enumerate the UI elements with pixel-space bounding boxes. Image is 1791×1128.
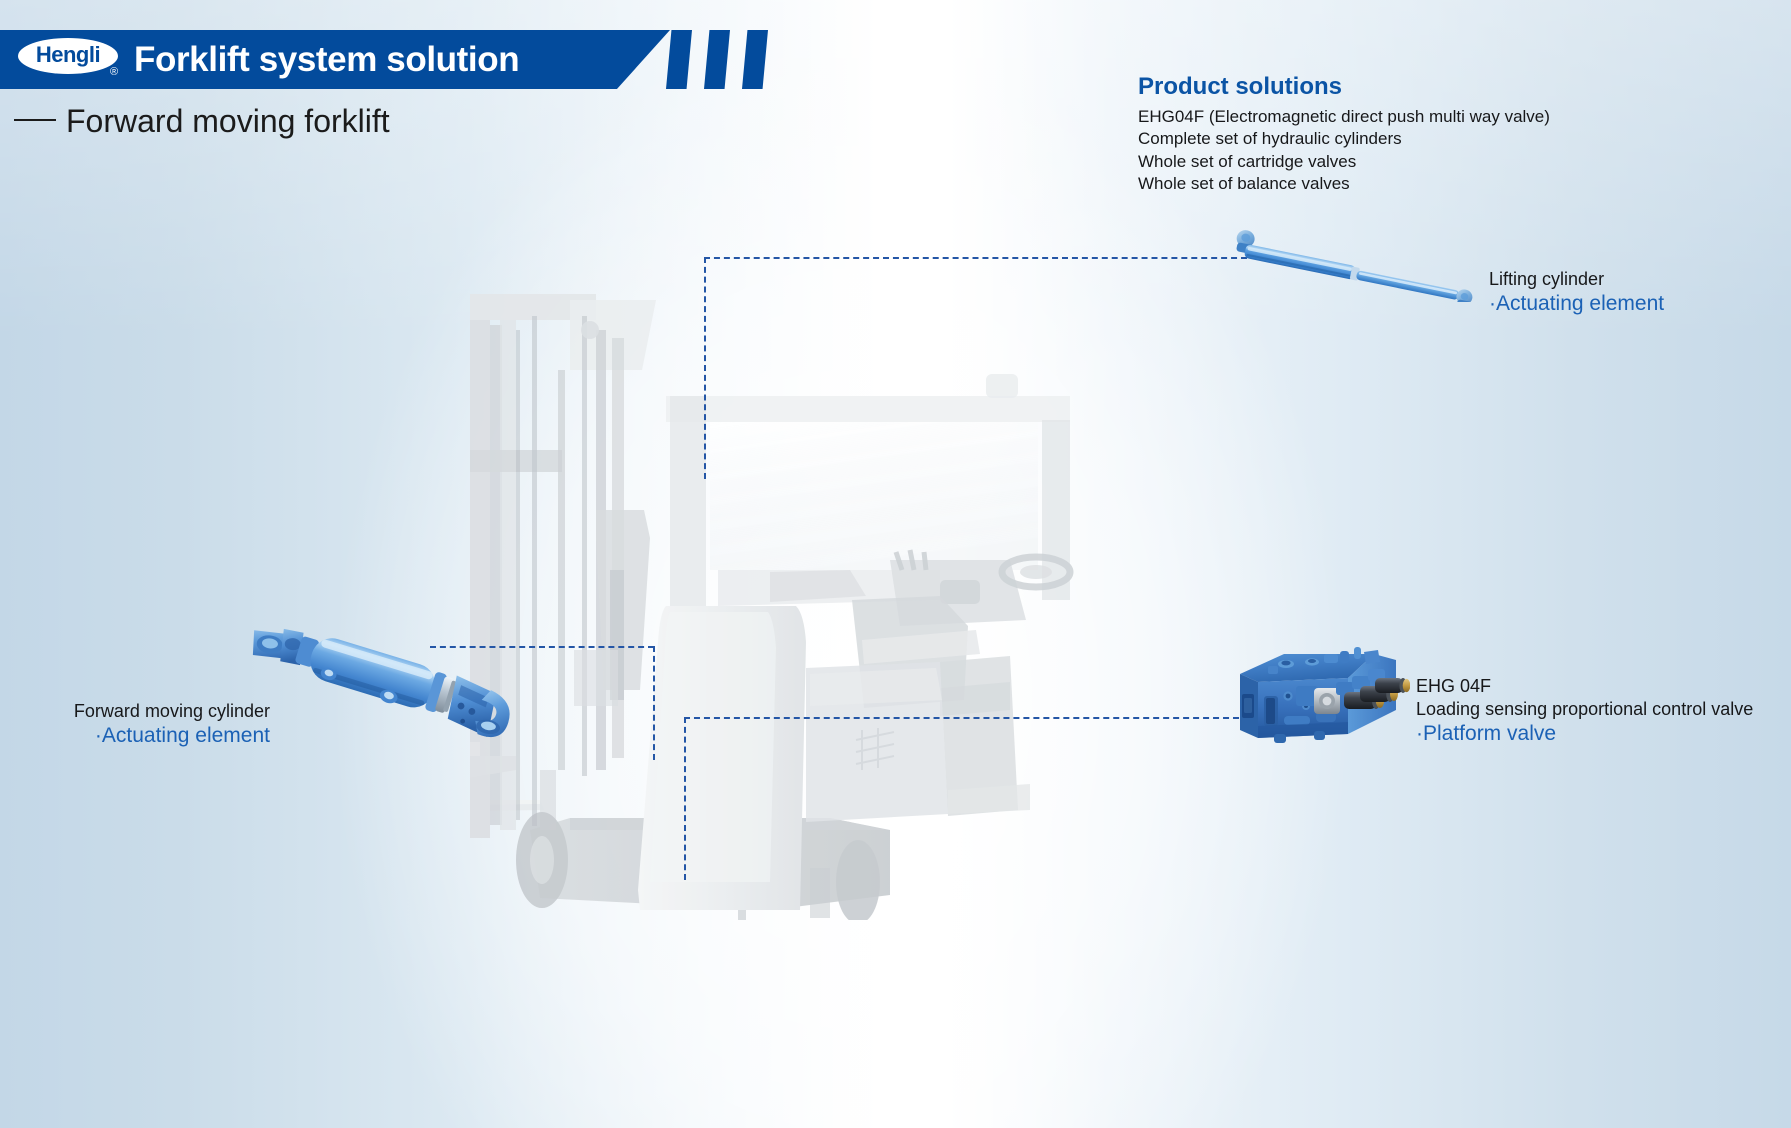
page-subtitle: Forward moving forklift	[14, 100, 390, 142]
banner-stripe-1	[666, 30, 692, 89]
leader-line-valve-horizontal	[684, 717, 1249, 719]
leader-line-valve-vertical	[684, 717, 686, 880]
callout-forward-moving-cylinder-name: Forward moving cylinder	[0, 700, 270, 723]
page-title: Forklift system solution	[134, 36, 519, 84]
hydraulic-forward-cylinder-icon	[248, 600, 523, 775]
callout-forward-moving-cylinder-role: ·Actuating element	[0, 723, 270, 749]
hydraulic-valve-manifold-icon	[1228, 638, 1410, 760]
product-solutions-heading: Product solutions	[1138, 73, 1342, 101]
page-subtitle-text: Forward moving forklift	[66, 103, 390, 139]
registered-trademark-icon: ®	[110, 67, 118, 78]
hengli-logo: Hengli ®	[18, 36, 126, 82]
callout-lifting-cylinder-role: ·Actuating element	[1489, 291, 1664, 317]
leader-line-forward-vertical	[653, 646, 655, 760]
banner-stripe-3	[742, 30, 768, 89]
forklift-silhouette-icon	[470, 270, 1090, 920]
callout-platform-valve-name: Loading sensing proportional control val…	[1416, 698, 1753, 721]
product-solutions-list: EHG04F (Electromagnetic direct push mult…	[1138, 106, 1550, 195]
banner-stripe-2	[704, 30, 730, 89]
logo-wordmark: Hengli	[36, 44, 100, 66]
callout-lifting-cylinder-name: Lifting cylinder	[1489, 268, 1664, 291]
callout-lifting-cylinder: Lifting cylinder ·Actuating element	[1489, 268, 1664, 317]
callout-forward-moving-cylinder: Forward moving cylinder ·Actuating eleme…	[0, 700, 270, 749]
list-item: Whole set of cartridge valves	[1138, 151, 1550, 173]
list-item: Whole set of balance valves	[1138, 173, 1550, 195]
leader-line-lifting-horizontal	[704, 257, 1247, 259]
callout-platform-valve-role: ·Platform valve	[1416, 721, 1753, 747]
callout-platform-valve: EHG 04F Loading sensing proportional con…	[1416, 675, 1753, 747]
callout-platform-valve-model: EHG 04F	[1416, 675, 1753, 698]
logo-ellipse-shape: Hengli	[18, 38, 118, 74]
em-dash-rule	[14, 119, 56, 121]
list-item: EHG04F (Electromagnetic direct push mult…	[1138, 106, 1550, 128]
hydraulic-lifting-cylinder-icon	[1225, 222, 1500, 302]
slide-canvas: Hengli ® Forklift system solution Forwar…	[0, 0, 1791, 1128]
leader-line-lifting-vertical	[704, 257, 706, 479]
list-item: Complete set of hydraulic cylinders	[1138, 128, 1550, 150]
